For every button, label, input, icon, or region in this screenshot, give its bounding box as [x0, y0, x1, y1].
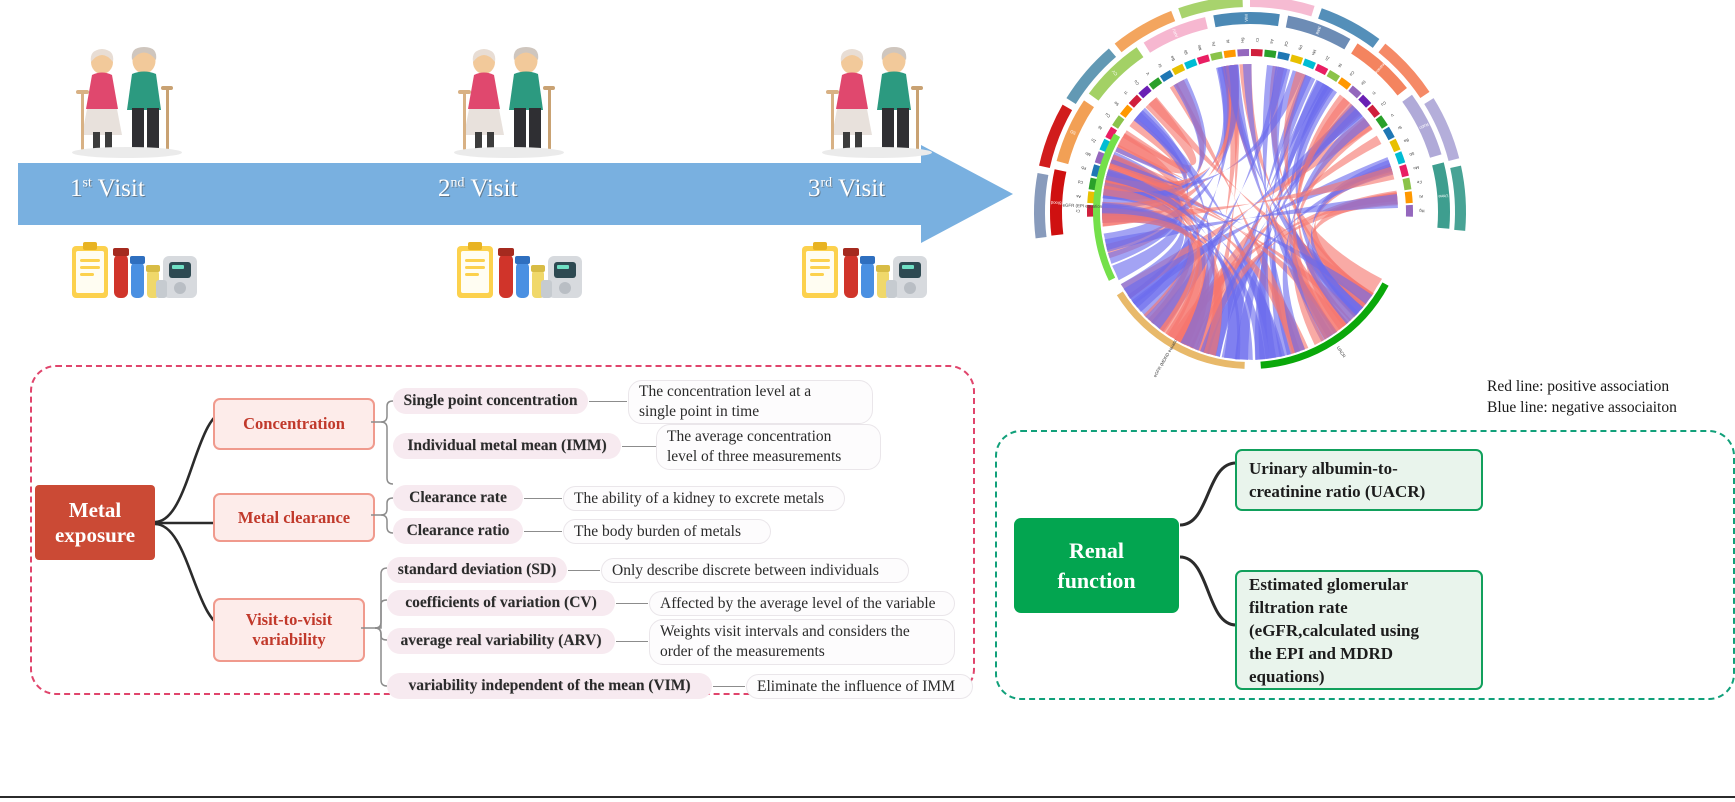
- svg-text:Al: Al: [1225, 39, 1230, 43]
- renal-output-uacr[interactable]: Urinary albumin-to- creatinine ratio (UA…: [1235, 449, 1483, 511]
- svg-text:Cu: Cu: [1104, 112, 1111, 119]
- renal-label-line1: Renal: [1057, 536, 1135, 566]
- term-coefficients-of-variation[interactable]: coefficients of variation (CV): [387, 590, 615, 616]
- svg-text:Zn: Zn: [1090, 137, 1096, 143]
- connector-line: [589, 401, 627, 402]
- connector-line: [616, 603, 648, 604]
- measurement-equipment-visit-3: [800, 240, 928, 306]
- svg-text:Sb: Sb: [1182, 49, 1189, 56]
- svg-text:Fe: Fe: [1210, 40, 1216, 46]
- desc-clearance-rate: The ability of a kidney to excrete metal…: [563, 486, 845, 511]
- figure-shadow: [72, 147, 182, 158]
- svg-text:eGFR (EPI equation): eGFR (EPI equation): [1063, 203, 1105, 209]
- svg-text:Pb: Pb: [1080, 165, 1087, 171]
- svg-text:Se: Se: [1360, 79, 1367, 87]
- elderly-couple-icon: [818, 48, 936, 158]
- visit-timeline-arrow: 1st Visit 2nd Visit 3rd Visit: [18, 163, 993, 225]
- measurement-equipment-visit-2: [455, 240, 583, 306]
- svg-text:V: V: [1390, 113, 1395, 119]
- svg-text:VIM: VIM: [1244, 14, 1249, 22]
- term-clearance-rate[interactable]: Clearance rate: [393, 485, 523, 511]
- svg-text:Mo: Mo: [1412, 165, 1419, 171]
- svg-text:Ba: Ba: [1169, 54, 1176, 61]
- renal-label-line2: function: [1057, 566, 1135, 596]
- svg-text:Cd: Cd: [1284, 41, 1290, 47]
- svg-text:Hg: Hg: [1419, 209, 1424, 214]
- svg-text:Sb: Sb: [1408, 151, 1415, 158]
- term-average-real-variability[interactable]: average real variability (ARV): [387, 628, 615, 654]
- svg-text:Sr: Sr: [1156, 62, 1163, 69]
- elderly-couple-icon: [450, 48, 568, 158]
- connector-line: [568, 570, 600, 571]
- renal-function-root-node[interactable]: Renal function: [1014, 518, 1179, 613]
- svg-text:Blood: Blood: [1050, 200, 1062, 206]
- connector-line: [616, 641, 648, 642]
- svg-text:Pb: Pb: [1297, 45, 1303, 52]
- term-individual-metal-mean[interactable]: Individual metal mean (IMM): [393, 433, 621, 459]
- renal-output-egfr[interactable]: Estimated glomerular filtration rate (eG…: [1235, 570, 1483, 690]
- svg-text:UACR: UACR: [1336, 345, 1347, 358]
- couple-illustration-visit-3: [818, 48, 936, 158]
- couple-illustration-visit-2: [450, 48, 568, 158]
- svg-text:Se: Se: [1112, 100, 1120, 107]
- term-clearance-ratio[interactable]: Clearance ratio: [393, 518, 523, 544]
- svg-text:Cr: Cr: [1255, 38, 1260, 43]
- svg-text:Cr: Cr: [1075, 209, 1080, 214]
- connector-line: [622, 446, 657, 447]
- visit-label-3: 3rd Visit: [808, 175, 885, 203]
- connector-line: [524, 531, 562, 532]
- legend-positive: Red line: positive association: [1487, 376, 1677, 397]
- visit-label-1: 1st Visit: [70, 175, 145, 203]
- svg-text:Cu: Cu: [1349, 70, 1356, 77]
- legend-negative: Blue line: negative associaiton: [1487, 397, 1677, 418]
- svg-text:Co: Co: [1132, 79, 1140, 87]
- category-concentration[interactable]: Concentration: [213, 398, 375, 450]
- desc-single-point-concentration: The concentration level at a single poin…: [628, 380, 873, 424]
- svg-text:Mn: Mn: [1085, 151, 1092, 158]
- chord-diagram: BloodSDCVARVVIMIMMClearanceRatioUrineCrA…: [990, 0, 1490, 430]
- svg-text:Al: Al: [1419, 194, 1423, 199]
- desc-average-real-variability: Weights visit intervals and considers th…: [649, 619, 955, 665]
- svg-text:Urine: Urine: [1438, 193, 1449, 199]
- clipboard-bloodtube-bpmonitor-icon: [800, 240, 930, 306]
- root-label-line2: exposure: [55, 523, 135, 548]
- svg-text:Sr: Sr: [1396, 125, 1403, 132]
- svg-text:Fe: Fe: [1416, 179, 1422, 185]
- chord-legend: Red line: positive association Blue line…: [1487, 376, 1677, 418]
- svg-text:Mn: Mn: [1311, 49, 1318, 56]
- svg-text:Ba: Ba: [1403, 137, 1410, 144]
- desc-standard-deviation: Only describe discrete between individua…: [601, 558, 909, 583]
- term-variability-independent-of-mean[interactable]: variability independent of the mean (VIM…: [387, 673, 712, 699]
- desc-individual-metal-mean: The average concentration level of three…: [656, 424, 881, 470]
- desc-coefficients-of-variation: Affected by the average level of the var…: [649, 591, 955, 616]
- term-standard-deviation[interactable]: standard deviation (SD): [387, 557, 567, 583]
- svg-text:Mo: Mo: [1196, 43, 1203, 51]
- svg-text:Tl: Tl: [1371, 90, 1377, 96]
- term-single-point-concentration[interactable]: Single point concentration: [393, 388, 588, 414]
- svg-text:Zn: Zn: [1324, 55, 1331, 61]
- connector-line: [713, 686, 745, 687]
- category-visit-to-visit-variability[interactable]: Visit-to-visit variability: [213, 598, 365, 662]
- clipboard-bloodtube-bpmonitor-icon: [455, 240, 585, 306]
- metal-exposure-root-node[interactable]: Metal exposure: [35, 485, 155, 560]
- svg-text:V: V: [1145, 71, 1151, 76]
- svg-text:Ni: Ni: [1337, 63, 1343, 69]
- svg-text:As: As: [1076, 194, 1081, 199]
- chord-diagram-svg: BloodSDCVARVVIMIMMClearanceRatioUrineCrA…: [990, 0, 1490, 430]
- desc-clearance-ratio: The body burden of metals: [563, 519, 771, 544]
- measurement-equipment-visit-1: [70, 240, 198, 306]
- svg-text:Hg: Hg: [1240, 38, 1245, 43]
- svg-text:Co: Co: [1379, 100, 1387, 108]
- clipboard-bloodtube-bpmonitor-icon: [70, 240, 200, 306]
- svg-text:Tl: Tl: [1123, 90, 1129, 96]
- bottom-divider: [0, 796, 1735, 798]
- desc-variability-independent-of-mean: Eliminate the influence of IMM: [746, 674, 973, 699]
- couple-illustration-visit-1: [68, 48, 186, 158]
- svg-text:Cd: Cd: [1078, 179, 1084, 185]
- root-label-line1: Metal: [55, 498, 135, 523]
- elderly-couple-icon: [68, 48, 186, 158]
- svg-text:As: As: [1269, 39, 1275, 44]
- category-metal-clearance[interactable]: Metal clearance: [213, 493, 375, 542]
- visit-label-2: 2nd Visit: [438, 175, 517, 203]
- figure-shadow: [454, 147, 564, 158]
- connector-line: [524, 498, 562, 499]
- svg-text:Ni: Ni: [1097, 125, 1103, 131]
- figure-shadow: [822, 147, 932, 158]
